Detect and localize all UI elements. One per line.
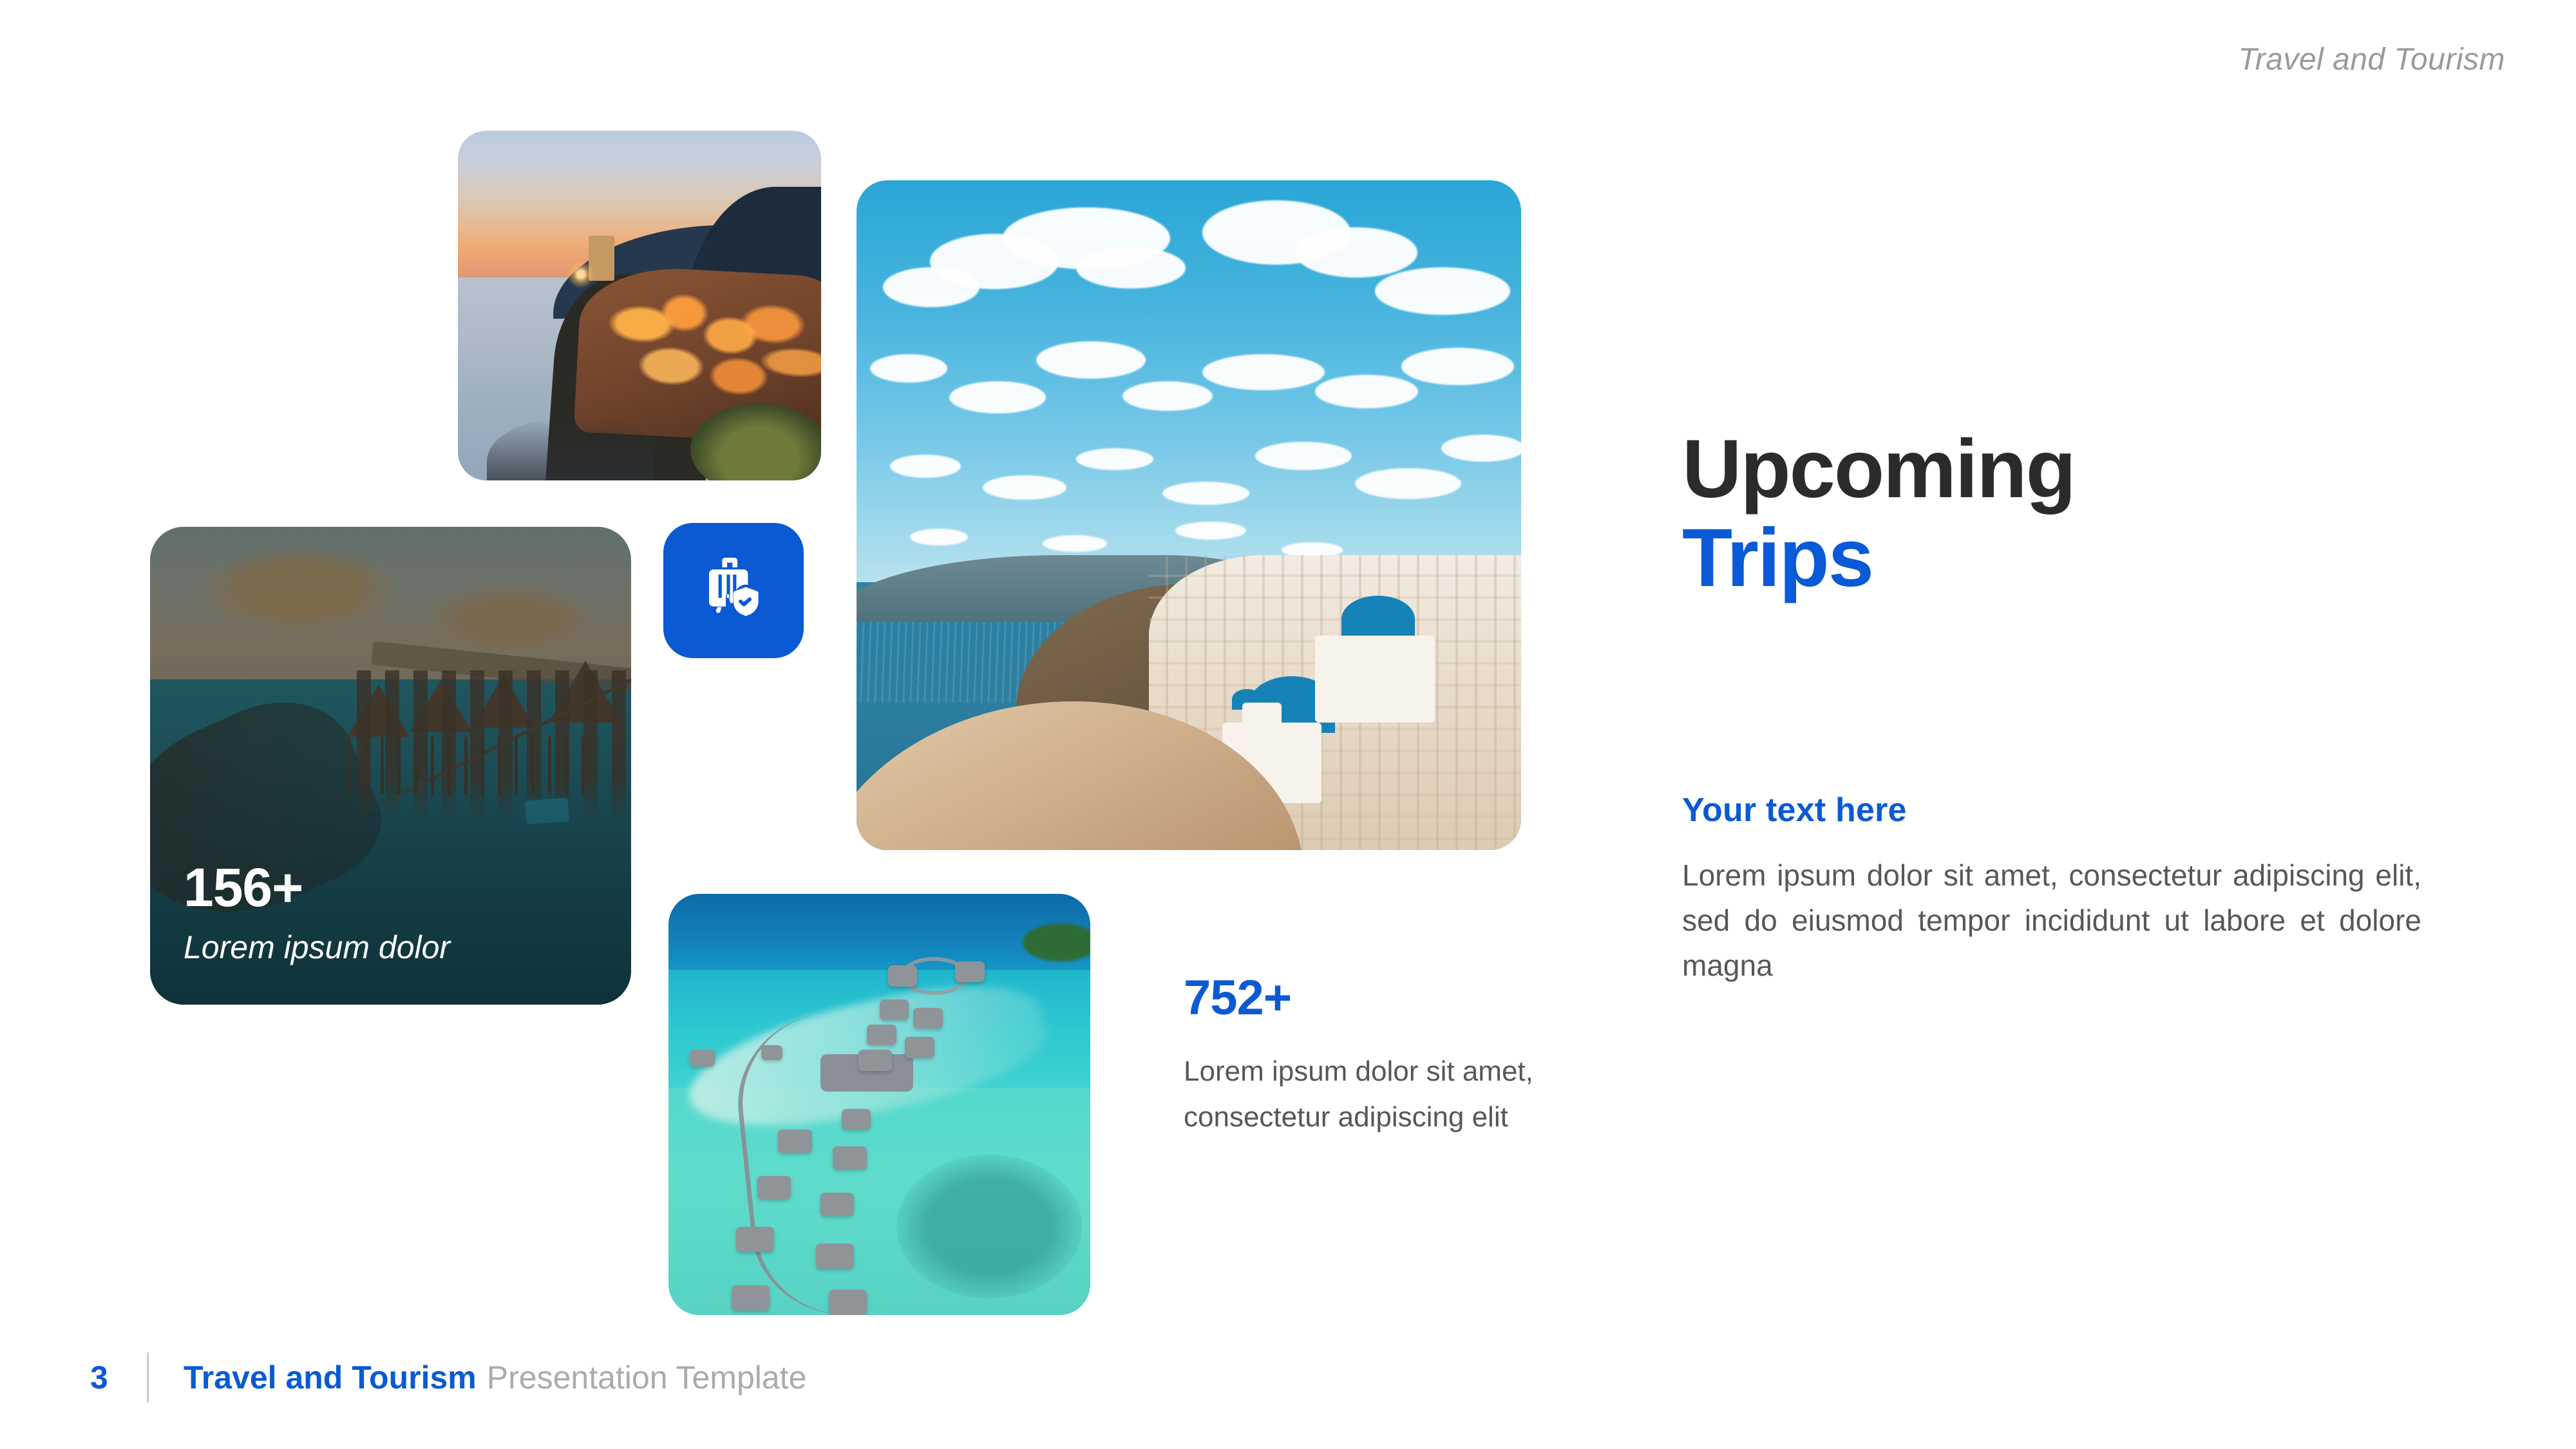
lagoon-villa — [757, 1176, 791, 1199]
lagoon-villa — [905, 1037, 934, 1058]
santorini-white-building — [1315, 636, 1435, 723]
lagoon-villa — [842, 1109, 871, 1130]
lagoon-villa — [820, 1193, 854, 1216]
stat-block-body: Lorem ipsum dolor sit amet, consectetur … — [1184, 1048, 1570, 1141]
lagoon-villa — [913, 1008, 943, 1029]
village-light-flare — [567, 260, 595, 289]
lagoon-villa — [778, 1130, 811, 1153]
footer-subtitle: Presentation Template — [487, 1359, 807, 1396]
lagoon-villa — [867, 1025, 896, 1046]
footer-divider — [147, 1352, 149, 1403]
footer-brand: Travel and Tourism — [184, 1359, 477, 1396]
page-title-line-2: Trips — [1682, 514, 2075, 603]
lagoon-villa — [955, 961, 985, 983]
lagoon-villa — [761, 1045, 782, 1060]
lagoon-villa — [690, 1050, 715, 1066]
stat-card-number: 156+ — [184, 860, 450, 914]
luggage-shield-check-icon-badge[interactable] — [663, 523, 804, 658]
lagoon-villa — [833, 1146, 866, 1170]
stat-block-number: 752+ — [1184, 974, 1570, 1023]
lagoon-villa — [829, 1290, 867, 1315]
luggage-shield-check-icon — [692, 549, 775, 632]
stat-block-752: 752+ Lorem ipsum dolor sit amet, consect… — [1184, 974, 1570, 1141]
stat-card-content: 156+ Lorem ipsum dolor — [184, 860, 450, 963]
content-subhead: Your text here — [1682, 791, 1907, 829]
lagoon-villa — [888, 965, 918, 987]
lagoon-villa — [736, 1227, 774, 1252]
photo-maldives-lagoon — [668, 894, 1090, 1315]
stat-card-caption: Lorem ipsum dolor — [184, 931, 450, 963]
slide-category-label: Travel and Tourism — [2239, 42, 2506, 77]
lagoon-villa — [732, 1285, 770, 1311]
lagoon-villa — [816, 1244, 854, 1269]
page-title: Upcoming Trips — [1682, 425, 2075, 603]
lagoon-islet — [1023, 923, 1090, 961]
page-number: 3 — [90, 1359, 133, 1396]
slide-footer: 3 Travel and Tourism Presentation Templa… — [90, 1352, 806, 1403]
photo-overwater-bungalows-card: 156+ Lorem ipsum dolor — [150, 527, 631, 1005]
slide-canvas: Travel and Tourism 156+ Lorem ipsum dolo… — [0, 0, 2576, 1449]
content-body: Lorem ipsum dolor sit amet, consectetur … — [1682, 853, 2421, 989]
lagoon-villa — [880, 999, 909, 1021]
page-title-line-1: Upcoming — [1682, 425, 2075, 514]
lagoon-villa — [858, 1050, 892, 1071]
photo-santorini — [857, 180, 1521, 850]
photo-coastal-village — [458, 131, 821, 480]
